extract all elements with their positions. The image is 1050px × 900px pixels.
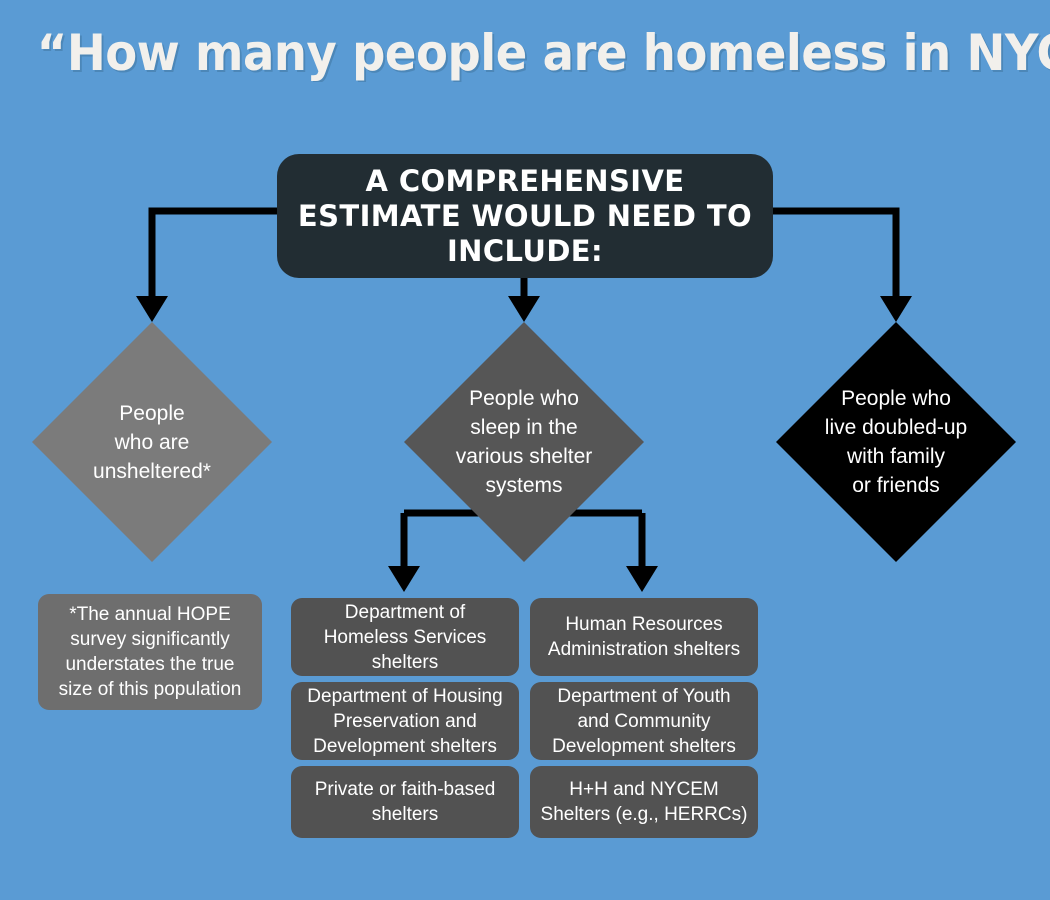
diamond-unsheltered: People who are unsheltered* xyxy=(32,322,272,562)
header-box-text: A COMPREHENSIVE ESTIMATE WOULD NEED TO I… xyxy=(277,164,773,269)
diamond-doubled-up-label: People who live doubled-up with family o… xyxy=(776,322,1016,562)
connector-header-to-unsheltered xyxy=(136,211,277,322)
shelter-box-private: Private or faith-based shelters xyxy=(291,766,519,838)
infographic-canvas: “How many people are homeless in NYC?” A… xyxy=(0,0,1050,900)
diamond-unsheltered-label: People who are unsheltered* xyxy=(32,322,272,562)
connector-header-to-shelter xyxy=(508,278,540,322)
diamond-shelter-systems-label: People who sleep in the various shelter … xyxy=(404,322,644,562)
footnote-box: *The annual HOPE survey significantly un… xyxy=(38,594,262,710)
shelter-box-hpd: Department of Housing Preservation and D… xyxy=(291,682,519,760)
connector-header-to-doubled-up xyxy=(773,211,912,322)
shelter-box-hra: Human Resources Administration shelters xyxy=(530,598,758,676)
diamond-doubled-up: People who live doubled-up with family o… xyxy=(776,322,1016,562)
shelter-box-dycd: Department of Youth and Community Develo… xyxy=(530,682,758,760)
header-box: A COMPREHENSIVE ESTIMATE WOULD NEED TO I… xyxy=(277,154,773,278)
shelter-box-hh: H+H and NYCEM Shelters (e.g., HERRCs) xyxy=(530,766,758,838)
shelter-box-dhs: Department of Homeless Services shelters xyxy=(291,598,519,676)
diamond-shelter-systems: People who sleep in the various shelter … xyxy=(404,322,644,562)
